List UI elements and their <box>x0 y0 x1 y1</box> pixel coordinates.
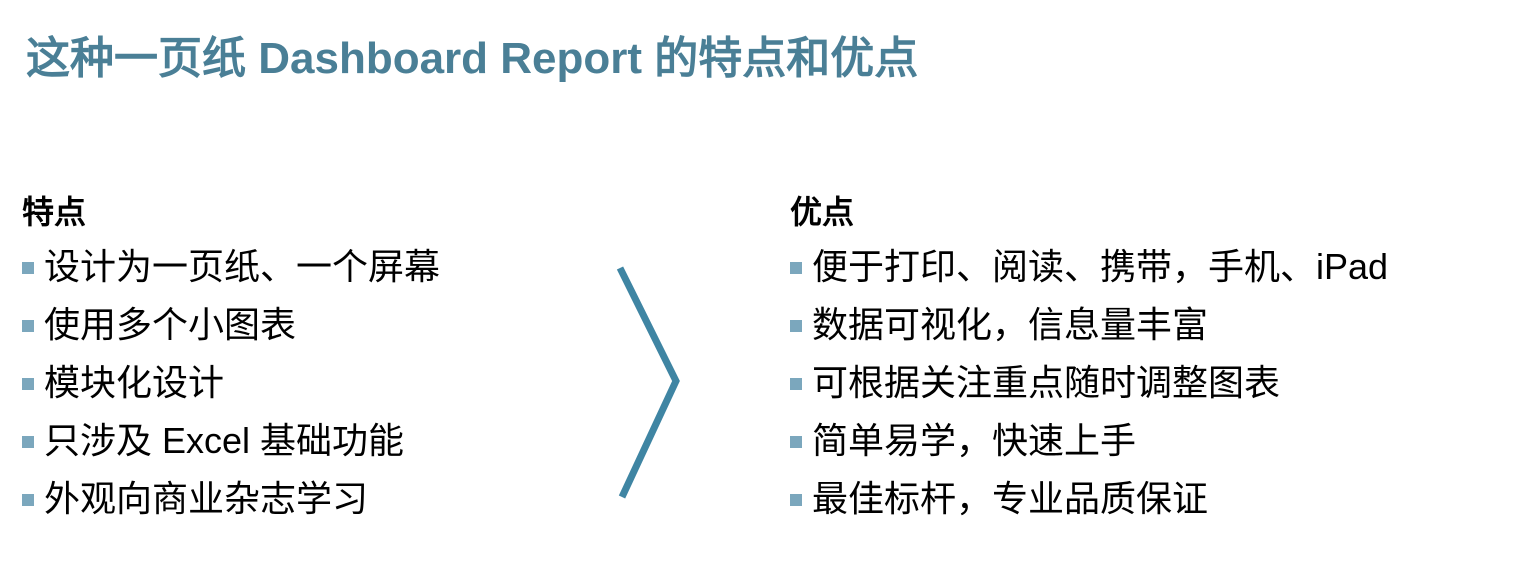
list-item-label: 设计为一页纸、一个屏幕 <box>44 249 440 285</box>
list-item-label: 使用多个小图表 <box>44 307 296 343</box>
list-item-label: 简单易学，快速上手 <box>812 423 1136 459</box>
list-item: 外观向商业杂志学习 <box>22 470 602 528</box>
square-bullet-icon <box>22 320 34 332</box>
square-bullet-icon <box>790 378 802 390</box>
square-bullet-icon <box>22 494 34 506</box>
list-item: 简单易学，快速上手 <box>790 412 1510 470</box>
list-item: 可根据关注重点随时调整图表 <box>790 354 1510 412</box>
features-column: 特点 设计为一页纸、一个屏幕 使用多个小图表 模块化设计 只涉及 Excel 基… <box>22 192 602 528</box>
list-item-label: 外观向商业杂志学习 <box>44 481 368 517</box>
features-bullet-list: 设计为一页纸、一个屏幕 使用多个小图表 模块化设计 只涉及 Excel 基础功能… <box>22 238 602 528</box>
benefits-column-heading: 优点 <box>790 192 1510 232</box>
list-item: 设计为一页纸、一个屏幕 <box>22 238 602 296</box>
list-item-label: 便于打印、阅读、携带，手机、iPad <box>812 249 1388 285</box>
list-item-label: 可根据关注重点随时调整图表 <box>812 365 1280 401</box>
page-title: 这种一页纸 Dashboard Report 的特点和优点 <box>26 34 918 85</box>
square-bullet-icon <box>790 262 802 274</box>
list-item: 使用多个小图表 <box>22 296 602 354</box>
list-item-label: 最佳标杆，专业品质保证 <box>812 481 1208 517</box>
square-bullet-icon <box>790 436 802 448</box>
list-item-label: 数据可视化，信息量丰富 <box>812 307 1208 343</box>
square-bullet-icon <box>22 436 34 448</box>
square-bullet-icon <box>22 378 34 390</box>
features-column-heading: 特点 <box>22 192 602 232</box>
list-item: 便于打印、阅读、携带，手机、iPad <box>790 238 1510 296</box>
list-item: 最佳标杆，专业品质保证 <box>790 470 1510 528</box>
list-item-label: 只涉及 Excel 基础功能 <box>44 423 404 459</box>
list-item: 数据可视化，信息量丰富 <box>790 296 1510 354</box>
list-item: 模块化设计 <box>22 354 602 412</box>
square-bullet-icon <box>790 494 802 506</box>
square-bullet-icon <box>22 262 34 274</box>
list-item-label: 模块化设计 <box>44 365 224 401</box>
list-item: 只涉及 Excel 基础功能 <box>22 412 602 470</box>
benefits-column: 优点 便于打印、阅读、携带，手机、iPad 数据可视化，信息量丰富 可根据关注重… <box>790 192 1510 528</box>
chevron-right-icon <box>604 255 700 511</box>
benefits-bullet-list: 便于打印、阅读、携带，手机、iPad 数据可视化，信息量丰富 可根据关注重点随时… <box>790 238 1510 528</box>
square-bullet-icon <box>790 320 802 332</box>
